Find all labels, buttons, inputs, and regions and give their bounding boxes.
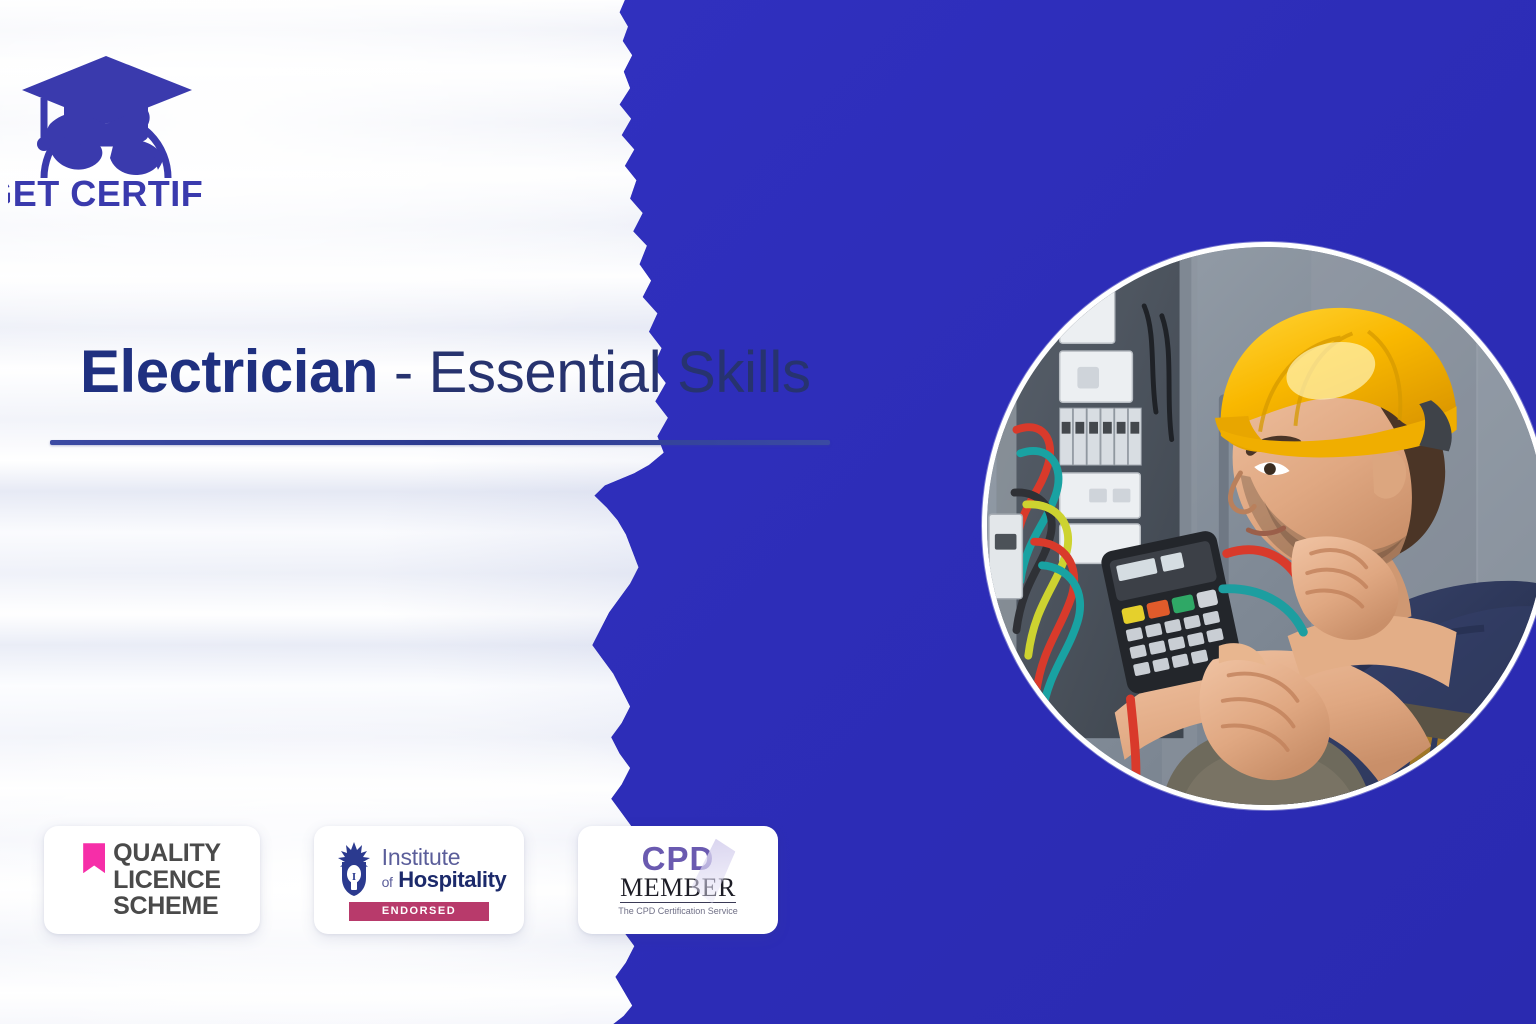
accreditation-badges: QUALITY LICENCE SCHEME — [44, 826, 778, 934]
badge-cpd-member[interactable]: CPD MEMBER The CPD Certification Service — [578, 826, 778, 934]
ioh-endorsed-ribbon: ENDORSED — [349, 902, 489, 921]
hero-photo — [982, 242, 1536, 810]
badge-institute-of-hospitality[interactable]: I Institute of Hospitality ENDORSED — [314, 826, 524, 934]
cpd-subtitle: The CPD Certification Service — [618, 906, 738, 916]
electrician-photo-illustration — [987, 247, 1536, 805]
ioh-line-hospitality: Hospitality — [398, 867, 506, 892]
qls-line-3: SCHEME — [113, 893, 221, 920]
title-subtitle: - Essential Skills — [378, 340, 811, 405]
svg-text:I: I — [352, 871, 356, 883]
badge-quality-licence-scheme[interactable]: QUALITY LICENCE SCHEME — [44, 826, 260, 934]
ioh-line-institute: Institute — [382, 846, 507, 869]
ioh-of: of — [382, 874, 393, 890]
title-divider — [50, 440, 830, 445]
heraldic-crest-icon: I — [332, 840, 376, 898]
title-course-name: Electrician — [80, 338, 378, 405]
graduation-cap-globe-icon: GET CERTIFY — [8, 28, 204, 214]
logo-wordmark: GET CERTIFY — [8, 173, 204, 214]
course-promo-banner: GET CERTIFY Electrician - Essential Skil… — [0, 0, 1536, 1024]
qls-line-2: LICENCE — [113, 867, 221, 894]
brand-logo[interactable]: GET CERTIFY — [8, 28, 204, 214]
qls-line-1: QUALITY — [113, 840, 221, 867]
page-title: Electrician - Essential Skills — [80, 340, 900, 404]
bookmark-icon — [83, 843, 105, 873]
